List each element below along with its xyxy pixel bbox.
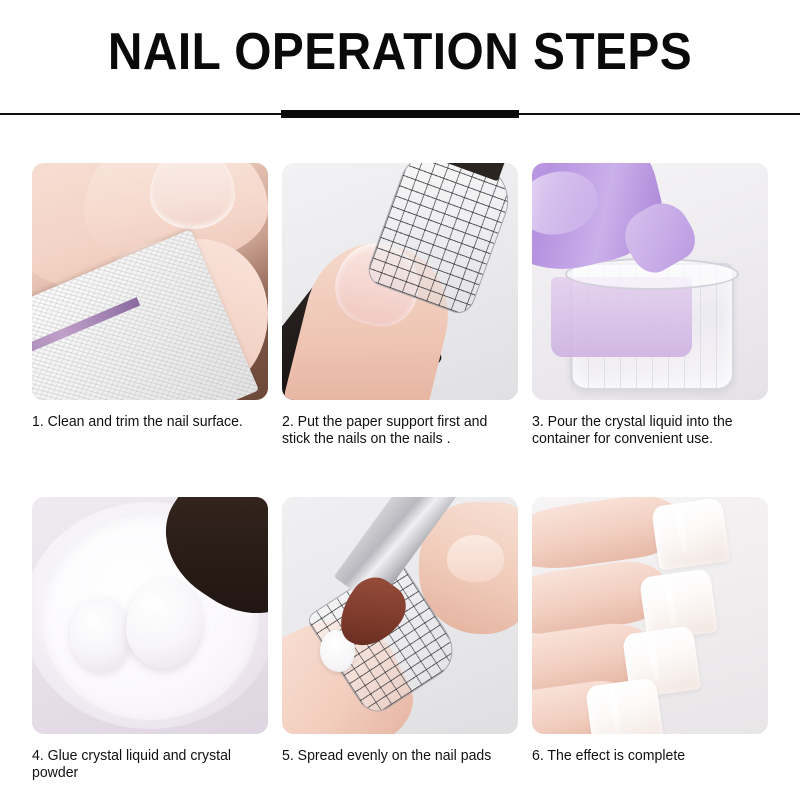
photo-4-artwork — [32, 497, 268, 734]
step-card-1: 1. Clean and trim the nail surface. — [32, 163, 268, 447]
photo-1-artwork — [32, 163, 268, 400]
step-caption-2: 2. Put the paper support first and stick… — [282, 413, 517, 447]
step-photo-glue-liquid-and-powder — [32, 497, 268, 734]
step-caption-5: 5. Spread evenly on the nail pads — [282, 747, 517, 764]
step-card-6: 6. The effect is complete — [532, 497, 768, 781]
step-photo-spread-evenly — [282, 497, 518, 734]
page-header: NAIL OPERATION STEPS — [0, 0, 800, 118]
page-title: NAIL OPERATION STEPS — [32, 24, 768, 80]
fingernail-shape — [150, 163, 235, 229]
step-photo-clean-and-trim — [32, 163, 268, 400]
step-photo-pour-crystal-liquid — [532, 163, 768, 400]
fingernail-shape — [447, 535, 504, 582]
finished-nail-shape — [651, 497, 730, 570]
step-caption-1: 1. Clean and trim the nail surface. — [32, 413, 267, 430]
steps-grid: 1. Clean and trim the nail surface. Nail… — [32, 163, 768, 781]
crystal-powder-blob — [126, 578, 202, 668]
photo-2-artwork: Nail System — [282, 163, 518, 400]
crystal-powder-blob — [70, 597, 131, 673]
step-photo-effect-complete — [532, 497, 768, 734]
finished-nail-shape — [585, 677, 664, 734]
step-caption-6: 6. The effect is complete — [532, 747, 767, 764]
photo-6-artwork — [532, 497, 768, 734]
step-card-2: Nail System 2. Put the paper support fir… — [282, 163, 518, 447]
photo-3-artwork — [532, 163, 768, 400]
title-divider — [0, 110, 800, 120]
step-card-3: 3. Pour the crystal liquid into the cont… — [532, 163, 768, 447]
step-caption-3: 3. Pour the crystal liquid into the cont… — [532, 413, 767, 447]
step-caption-4: 4. Glue crystal liquid and crystal powde… — [32, 747, 267, 781]
step-card-4: 4. Glue crystal liquid and crystal powde… — [32, 497, 268, 781]
grid-row-spacer — [32, 447, 268, 497]
grid-row-spacer — [282, 447, 518, 497]
divider-accent-bar — [281, 110, 519, 118]
grid-row-spacer — [532, 447, 768, 497]
photo-5-artwork — [282, 497, 518, 734]
step-card-5: 5. Spread evenly on the nail pads — [282, 497, 518, 781]
step-photo-paper-support: Nail System — [282, 163, 518, 400]
